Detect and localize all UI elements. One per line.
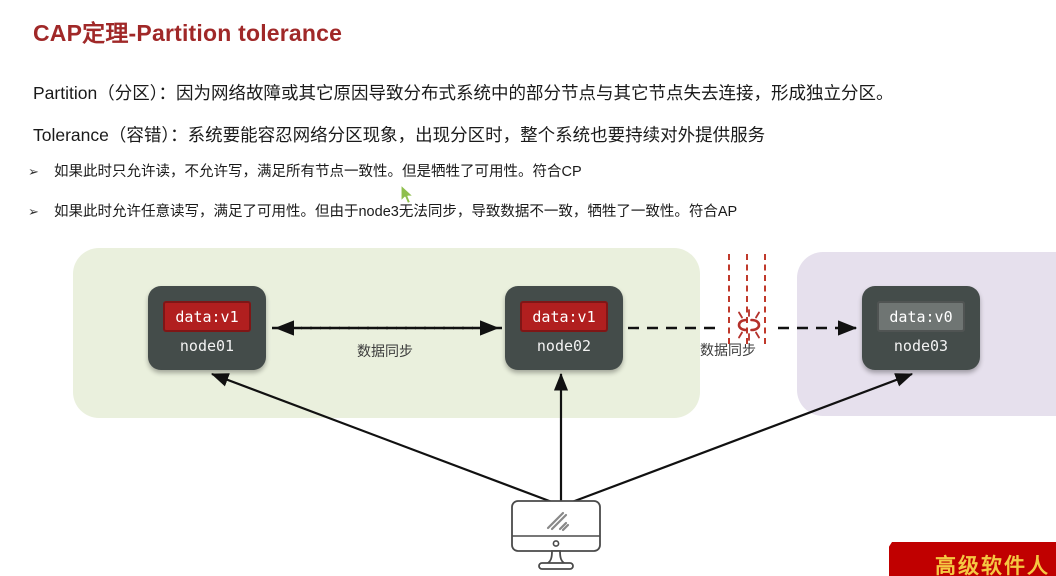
- node-01[interactable]: data:v1 node01: [148, 286, 266, 370]
- node-01-data-value: data:v1: [163, 301, 251, 332]
- page-title: CAP定理-Partition tolerance: [33, 14, 342, 48]
- bullet-arrow-icon: ➢: [28, 162, 54, 182]
- bullet-item-ap: ➢ 如果此时允许任意读写，满足了可用性。但由于node3无法同步，导致数据不一致…: [28, 202, 737, 222]
- node-02-data-value: data:v1: [520, 301, 608, 332]
- watermark-label: 高级软件人: [935, 550, 1050, 576]
- bullet-item-cp-label: 如果此时只允许读，不允许写，满足所有节点一致性。但是牺牲了可用性。符合CP: [54, 162, 582, 182]
- sync-label-node01-node02: 数据同步: [357, 341, 413, 361]
- watermark-banner: 高级软件人: [889, 542, 1056, 576]
- monitor-icon[interactable]: [508, 498, 604, 574]
- paragraph-tolerance: Tolerance（容错）：系统要能容忍网络分区现象，出现分区时，整个系统也要持…: [33, 122, 765, 147]
- cap-partition-diagram: data:v1 node01 data:v1 node02 data:v0 no…: [0, 236, 1056, 576]
- mouse-pointer-icon: [400, 184, 416, 206]
- node-03-label: node03: [894, 337, 948, 355]
- paragraph-partition: Partition（分区）：因为网络故障或其它原因导致分布式系统中的部分节点与其…: [33, 80, 893, 105]
- node-02-label: node02: [537, 337, 591, 355]
- bullet-arrow-icon: ➢: [28, 202, 54, 222]
- slide-canvas: CAP定理-Partition tolerance Partition（分区）：…: [0, 0, 1056, 576]
- node-03[interactable]: data:v0 node03: [862, 286, 980, 370]
- node-03-data-value: data:v0: [877, 301, 965, 332]
- bullet-item-ap-label: 如果此时允许任意读写，满足了可用性。但由于node3无法同步，导致数据不一致，牺…: [54, 202, 737, 222]
- node-01-label: node01: [180, 337, 234, 355]
- node-02[interactable]: data:v1 node02: [505, 286, 623, 370]
- bullet-item-cp: ➢ 如果此时只允许读，不允许写，满足所有节点一致性。但是牺牲了可用性。符合CP: [28, 162, 582, 182]
- broken-link-icon: [726, 302, 772, 348]
